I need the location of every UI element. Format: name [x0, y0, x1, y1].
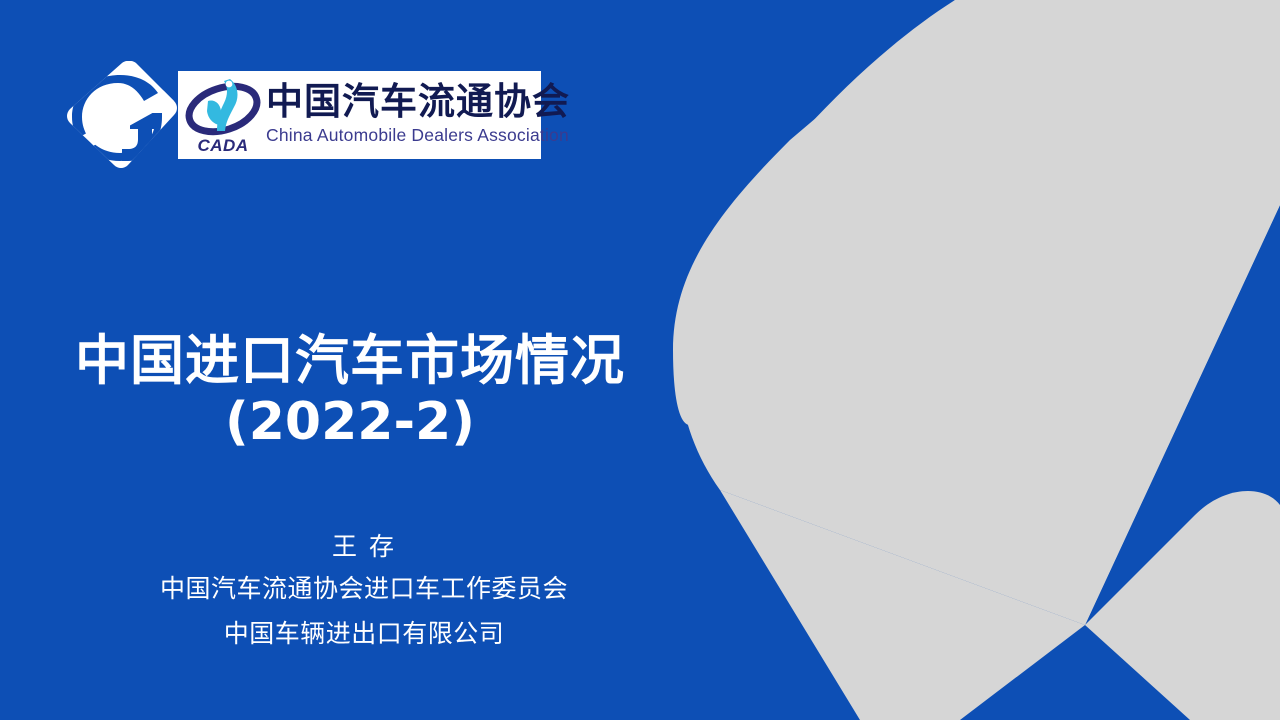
slide-title-block: 中国进口汽车市场情况 (2022-2) — [0, 330, 700, 452]
cada-name-cn: 中国汽车流通协会 — [266, 82, 570, 124]
slide-title-period: (2022-2) — [0, 392, 700, 452]
gu-diamond-logo-icon — [66, 61, 178, 169]
slide-title-primary: 中国进口汽车市场情况 — [0, 330, 700, 392]
cada-abbr-text: CADA — [197, 136, 248, 155]
presentation-slide: CADA 中国汽车流通协会 China Automobile Dealers A… — [0, 0, 1280, 720]
decor-shape-large-tail — [720, 490, 1085, 720]
decor-shape-large — [673, 0, 1280, 625]
affiliation-line-1: 中国汽车流通协会进口车工作委员会 — [0, 566, 728, 611]
decor-shape-small — [1085, 491, 1280, 720]
slide-byline-block: 王 存 中国汽车流通协会进口车工作委员会 中国车辆进出口有限公司 — [0, 528, 728, 656]
logo-row: CADA 中国汽车流通协会 China Automobile Dealers A… — [66, 60, 541, 170]
cada-text-block: 中国汽车流通协会 China Automobile Dealers Associ… — [266, 82, 570, 148]
author-name: 王 存 — [0, 528, 728, 566]
cada-logo-box: CADA 中国汽车流通协会 China Automobile Dealers A… — [178, 71, 541, 159]
cada-name-en: China Automobile Dealers Association — [266, 124, 570, 146]
decor-shape-large-lobe — [679, 0, 1280, 625]
affiliation-line-2: 中国车辆进出口有限公司 — [0, 611, 728, 656]
cada-emblem-icon: CADA — [184, 75, 262, 155]
